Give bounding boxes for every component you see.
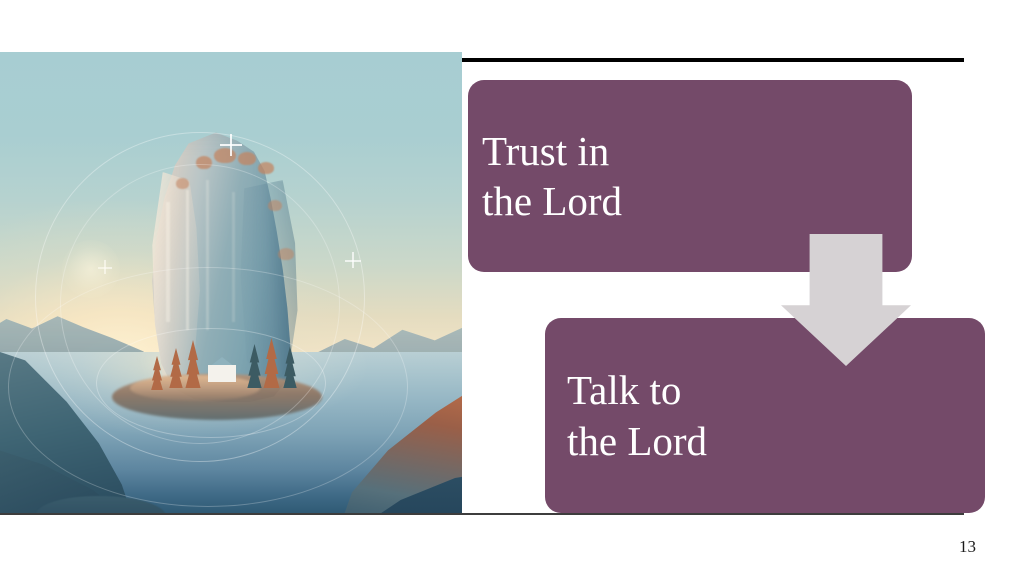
page-number: 13 — [959, 537, 976, 557]
top-divider-line — [462, 58, 964, 62]
callout-talk-text: Talk to the Lord — [567, 365, 707, 465]
glow-arc — [96, 328, 326, 438]
lens-flare — [62, 240, 120, 298]
callout-talk-to-the-lord[interactable]: Talk to the Lord — [545, 318, 985, 513]
sparkle-icon — [220, 144, 242, 146]
sparkle-icon — [345, 260, 361, 262]
bottom-divider-line — [0, 513, 964, 515]
callout-trust-text: Trust in the Lord — [482, 126, 622, 226]
illustration-image — [0, 52, 462, 515]
slide-canvas: Trust in the Lord Talk to the Lord 13 — [0, 0, 1024, 576]
